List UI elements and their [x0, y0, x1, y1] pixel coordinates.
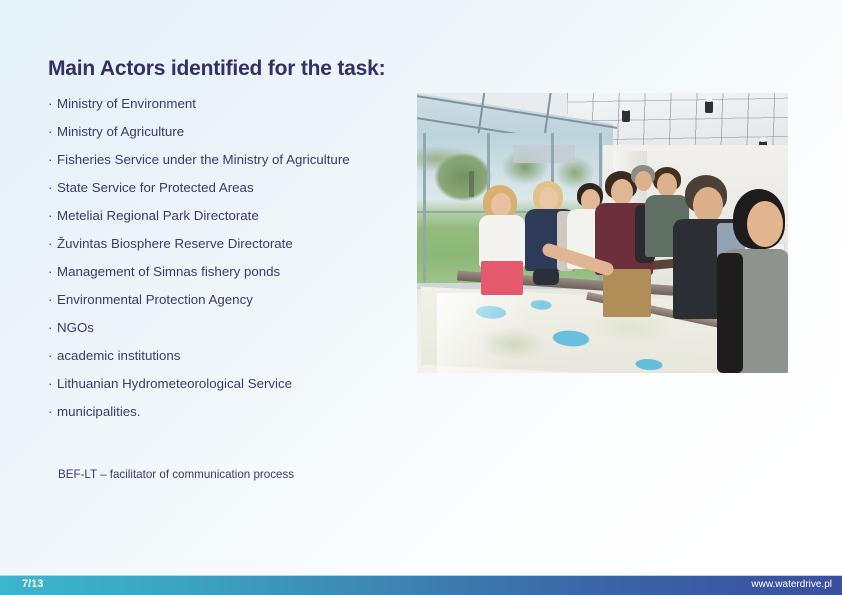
workshop-photo	[417, 93, 788, 373]
list-item-label: Management of Simnas fishery ponds	[57, 258, 280, 286]
page-title: Main Actors identified for the task:	[48, 57, 385, 81]
bullet-dot-icon: ·	[48, 202, 57, 230]
list-item-label: Ministry of Environment	[57, 90, 196, 118]
bullet-dot-icon: ·	[48, 174, 57, 202]
facilitator-note: BEF-LT – facilitator of communication pr…	[58, 468, 294, 481]
photo-glare	[437, 293, 577, 373]
photo-tree-trunk	[469, 171, 474, 197]
photo-spotlight-icon	[622, 110, 630, 122]
list-item: · Environmental Protection Agency	[48, 286, 408, 314]
photo-building	[513, 145, 575, 163]
list-item-label: Meteliai Regional Park Directorate	[57, 202, 259, 230]
list-item-label: municipalities.	[57, 398, 141, 426]
bullet-dot-icon: ·	[48, 342, 57, 370]
footer-website-link[interactable]: www.waterdrive.pl	[751, 579, 832, 590]
bullet-dot-icon: ·	[48, 118, 57, 146]
photo-spotlight-icon	[705, 101, 713, 113]
bullet-dot-icon: ·	[48, 398, 57, 426]
list-item: · Fisheries Service under the Ministry o…	[48, 146, 408, 174]
slide-footer: 7/13 www.waterdrive.pl	[0, 575, 842, 595]
bullet-dot-icon: ·	[48, 258, 57, 286]
bullet-dot-icon: ·	[48, 286, 57, 314]
slide: Main Actors identified for the task: · M…	[0, 0, 842, 595]
bullet-dot-icon: ·	[48, 230, 57, 258]
bullet-dot-icon: ·	[48, 314, 57, 342]
list-item-label: academic institutions	[57, 342, 180, 370]
list-item-label: State Service for Protected Areas	[57, 174, 254, 202]
list-item: · Žuvintas Biosphere Reserve Directorate	[48, 230, 408, 258]
list-item: · Meteliai Regional Park Directorate	[48, 202, 408, 230]
photo-window-mullion	[423, 133, 426, 283]
bullet-dot-icon: ·	[48, 370, 57, 398]
list-item: · academic institutions	[48, 342, 408, 370]
list-item-label: NGOs	[57, 314, 94, 342]
list-item: · Lithuanian Hydrometeorological Service	[48, 370, 408, 398]
actors-list: · Ministry of Environment · Ministry of …	[48, 90, 408, 426]
list-item: · State Service for Protected Areas	[48, 174, 408, 202]
list-item-label: Žuvintas Biosphere Reserve Directorate	[57, 230, 293, 258]
list-item: · Management of Simnas fishery ponds	[48, 258, 408, 286]
bullet-dot-icon: ·	[48, 146, 57, 174]
list-item-label: Ministry of Agriculture	[57, 118, 184, 146]
list-item: · NGOs	[48, 314, 408, 342]
list-item: · Ministry of Environment	[48, 90, 408, 118]
list-item-label: Fisheries Service under the Ministry of …	[57, 146, 350, 174]
list-item-label: Lithuanian Hydrometeorological Service	[57, 370, 292, 398]
list-item: · municipalities.	[48, 398, 408, 426]
bullet-dot-icon: ·	[48, 90, 57, 118]
page-number: 7/13	[22, 578, 43, 590]
list-item: · Ministry of Agriculture	[48, 118, 408, 146]
list-item-label: Environmental Protection Agency	[57, 286, 253, 314]
